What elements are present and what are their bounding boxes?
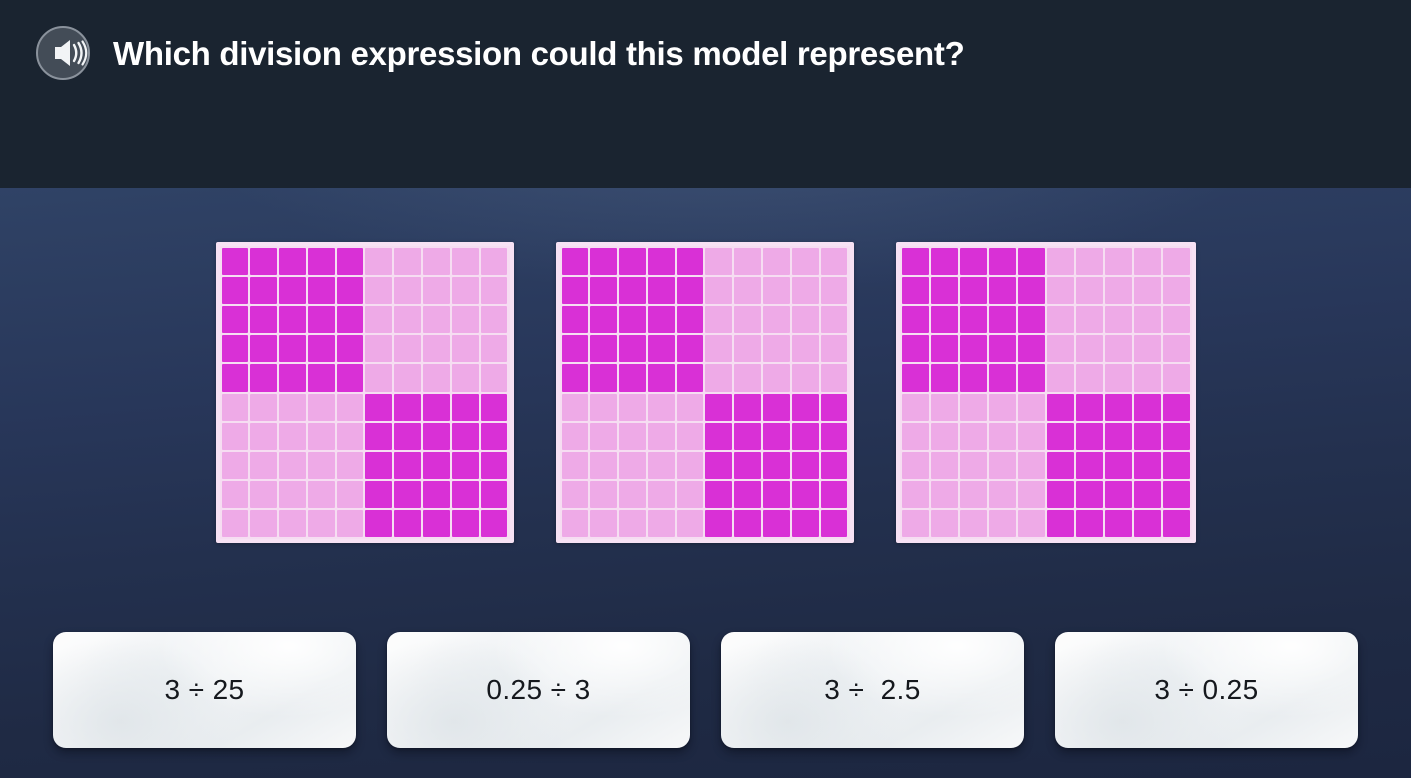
- grid-cell: [1163, 481, 1190, 508]
- grid-cell: [337, 394, 364, 421]
- grid-cell: [763, 481, 790, 508]
- grid-cell: [648, 481, 675, 508]
- answer-option-2-label: 0.25 ÷ 3: [486, 674, 590, 706]
- page-title: Which division expression could this mod…: [113, 34, 964, 72]
- grid-cell: [279, 277, 306, 304]
- grid-cell: [1047, 306, 1074, 333]
- grid-cell: [1076, 481, 1103, 508]
- grid-cell: [562, 394, 589, 421]
- grid-cell: [1047, 423, 1074, 450]
- grid-cell: [931, 364, 958, 391]
- grid-cell: [1134, 364, 1161, 391]
- grid-cell: [1018, 481, 1045, 508]
- grid-cell: [423, 394, 450, 421]
- grid-cell: [677, 510, 704, 537]
- grid-cell: [705, 510, 732, 537]
- grid-cell: [481, 248, 508, 275]
- grid-cell: [763, 452, 790, 479]
- grid-cell: [279, 306, 306, 333]
- grid-cell: [337, 481, 364, 508]
- grid-cell: [1134, 306, 1161, 333]
- grid-cell: [734, 248, 761, 275]
- grid-cell: [1076, 364, 1103, 391]
- answer-option-1[interactable]: 3 ÷ 25: [53, 632, 356, 748]
- grid-cell: [308, 423, 335, 450]
- grid-cell: [792, 423, 819, 450]
- grid-cell: [1047, 364, 1074, 391]
- grid-cell: [619, 306, 646, 333]
- grid-cell: [648, 277, 675, 304]
- grid-cell: [365, 481, 392, 508]
- grid-cell: [279, 510, 306, 537]
- grid-cell: [337, 306, 364, 333]
- grid-cell: [619, 248, 646, 275]
- grid-cell: [792, 335, 819, 362]
- grid-cell: [902, 335, 929, 362]
- grid-cell: [279, 394, 306, 421]
- grid-cell: [308, 481, 335, 508]
- grid-cell: [705, 335, 732, 362]
- grid-cell: [960, 277, 987, 304]
- grid-cell: [734, 364, 761, 391]
- grid-cell: [705, 248, 732, 275]
- grid-cell: [677, 248, 704, 275]
- grid-cell: [792, 481, 819, 508]
- grid-cell: [734, 394, 761, 421]
- grid-cell: [250, 277, 277, 304]
- grid-cell: [705, 277, 732, 304]
- grid-cell: [677, 452, 704, 479]
- grid-cell: [222, 452, 249, 479]
- grid-cell: [590, 510, 617, 537]
- grid-cell: [1134, 423, 1161, 450]
- grid-cell: [902, 510, 929, 537]
- grid-cell: [821, 452, 848, 479]
- grid-cell: [308, 277, 335, 304]
- grid-cell: [452, 452, 479, 479]
- grid-cell: [960, 306, 987, 333]
- grid-cell: [365, 364, 392, 391]
- grid-cell: [792, 510, 819, 537]
- grid-cell: [734, 423, 761, 450]
- hundredths-grid-1: [216, 242, 514, 543]
- grid-cell: [250, 306, 277, 333]
- grid-cell: [423, 364, 450, 391]
- grid-cell: [1163, 335, 1190, 362]
- grid-cell: [763, 364, 790, 391]
- grid-cell: [763, 277, 790, 304]
- grid-cell: [1047, 277, 1074, 304]
- grid-cell: [705, 364, 732, 391]
- grid-cell: [734, 335, 761, 362]
- grid-cell: [337, 510, 364, 537]
- grid-cell: [960, 423, 987, 450]
- grid-cell: [734, 481, 761, 508]
- grid-cell: [960, 452, 987, 479]
- answer-option-3[interactable]: 3 ÷ 2.5: [721, 632, 1024, 748]
- grid-cell: [989, 248, 1016, 275]
- grid-cell: [481, 423, 508, 450]
- grid-cell: [1076, 277, 1103, 304]
- grid-cell: [562, 277, 589, 304]
- grid-cell: [250, 423, 277, 450]
- grid-cell: [365, 423, 392, 450]
- quiz-screen: Which division expression could this mod…: [0, 0, 1411, 778]
- grid-cell: [1134, 394, 1161, 421]
- hundredths-grid-2: [556, 242, 854, 543]
- grid-cell: [279, 248, 306, 275]
- grid-cell: [1076, 306, 1103, 333]
- grid-cell: [222, 481, 249, 508]
- grid-cell: [677, 364, 704, 391]
- grid-cell: [279, 481, 306, 508]
- grid-cell: [365, 510, 392, 537]
- grid-cell: [648, 510, 675, 537]
- grid-cell: [394, 394, 421, 421]
- grid-cell: [481, 277, 508, 304]
- grid-cell: [1076, 452, 1103, 479]
- grid-cell: [222, 277, 249, 304]
- grid-cell: [337, 277, 364, 304]
- grid-cell: [590, 423, 617, 450]
- grid-cell: [452, 364, 479, 391]
- grid-cell: [590, 306, 617, 333]
- grid-cell: [337, 452, 364, 479]
- grid-cell: [481, 452, 508, 479]
- grid-cell: [792, 277, 819, 304]
- grid-cell: [1076, 510, 1103, 537]
- grid-cell: [337, 423, 364, 450]
- grid-cell: [902, 248, 929, 275]
- grid-cell: [452, 423, 479, 450]
- grid-cell: [821, 277, 848, 304]
- grid-cell: [452, 306, 479, 333]
- grid-cell: [960, 335, 987, 362]
- grid-cell: [222, 364, 249, 391]
- grid-cell: [1018, 510, 1045, 537]
- grid-cell: [1018, 452, 1045, 479]
- grid-cell: [481, 306, 508, 333]
- grid-cell: [222, 423, 249, 450]
- grid-cell: [1105, 335, 1132, 362]
- grid-cell: [931, 306, 958, 333]
- grid-cell: [792, 364, 819, 391]
- grid-cell: [734, 306, 761, 333]
- grid-cell: [734, 452, 761, 479]
- grid-cell: [562, 248, 589, 275]
- grid-cell: [821, 364, 848, 391]
- grid-cell: [337, 248, 364, 275]
- grid-cell: [989, 423, 1016, 450]
- grid-cell: [1134, 510, 1161, 537]
- model-row: [0, 242, 1411, 543]
- grid-cell: [792, 248, 819, 275]
- grid-cell: [1163, 394, 1190, 421]
- grid-cell: [619, 510, 646, 537]
- grid-cell: [562, 306, 589, 333]
- grid-cell: [960, 364, 987, 391]
- grid-cell: [902, 306, 929, 333]
- grid-cell: [1163, 277, 1190, 304]
- grid-cell: [562, 423, 589, 450]
- grid-cell: [821, 481, 848, 508]
- grid-cell: [705, 423, 732, 450]
- grid-cell: [250, 394, 277, 421]
- grid-cell: [590, 364, 617, 391]
- grid-cell: [1105, 277, 1132, 304]
- grid-cell: [1018, 277, 1045, 304]
- grid-cell: [902, 394, 929, 421]
- grid-cell: [279, 452, 306, 479]
- grid-cell: [677, 423, 704, 450]
- grid-cell: [902, 423, 929, 450]
- grid-cell: [1134, 481, 1161, 508]
- grid-cell: [989, 306, 1016, 333]
- grid-cell: [423, 335, 450, 362]
- grid-cell: [1105, 248, 1132, 275]
- grid-cell: [590, 335, 617, 362]
- grid-cell: [308, 335, 335, 362]
- grid-cell: [821, 248, 848, 275]
- grid-cell: [1018, 335, 1045, 362]
- grid-cell: [1047, 335, 1074, 362]
- grid-cell: [394, 335, 421, 362]
- grid-cell: [1018, 364, 1045, 391]
- grid-cell: [931, 510, 958, 537]
- question-header: Which division expression could this mod…: [0, 0, 1411, 188]
- grid-cell: [1105, 510, 1132, 537]
- grid-cell: [902, 481, 929, 508]
- grid-cell: [423, 481, 450, 508]
- grid-cell: [821, 394, 848, 421]
- grid-cell: [222, 306, 249, 333]
- grid-cell: [1105, 364, 1132, 391]
- grid-cell: [960, 510, 987, 537]
- answer-option-2[interactable]: 0.25 ÷ 3: [387, 632, 690, 748]
- grid-cell: [648, 364, 675, 391]
- grid-cell: [677, 335, 704, 362]
- grid-cell: [648, 248, 675, 275]
- grid-cell: [423, 452, 450, 479]
- grid-cell: [562, 510, 589, 537]
- grid-cell: [1163, 510, 1190, 537]
- grid-cell: [763, 248, 790, 275]
- grid-cell: [590, 277, 617, 304]
- grid-cell: [705, 481, 732, 508]
- grid-cell: [222, 248, 249, 275]
- grid-cell: [308, 394, 335, 421]
- grid-cell: [821, 510, 848, 537]
- grid-cell: [619, 481, 646, 508]
- grid-cell: [365, 248, 392, 275]
- grid-cell: [423, 510, 450, 537]
- grid-cell: [931, 481, 958, 508]
- grid-cell: [763, 335, 790, 362]
- grid-cell: [1018, 306, 1045, 333]
- grid-cell: [394, 481, 421, 508]
- grid-cell: [734, 510, 761, 537]
- grid-cell: [705, 452, 732, 479]
- grid-cell: [590, 394, 617, 421]
- grid-cell: [481, 335, 508, 362]
- grid-cell: [902, 364, 929, 391]
- grid-cell: [562, 452, 589, 479]
- grid-cell: [902, 277, 929, 304]
- grid-cell: [423, 423, 450, 450]
- grid-cell: [250, 452, 277, 479]
- grid-cell: [1047, 481, 1074, 508]
- answer-options: 3 ÷ 25 0.25 ÷ 3 3 ÷ 2.5 3 ÷ 0.25: [0, 632, 1411, 748]
- grid-cell: [481, 364, 508, 391]
- grid-cell: [619, 364, 646, 391]
- grid-cell: [1105, 481, 1132, 508]
- hundredths-grid-3: [896, 242, 1196, 543]
- grid-cell: [1047, 452, 1074, 479]
- grid-cell: [619, 394, 646, 421]
- grid-cell: [1018, 248, 1045, 275]
- grid-cell: [931, 423, 958, 450]
- grid-cell: [590, 481, 617, 508]
- grid-cell: [394, 510, 421, 537]
- grid-cell: [792, 394, 819, 421]
- grid-cell: [989, 335, 1016, 362]
- grid-cell: [337, 364, 364, 391]
- grid-cell: [1134, 248, 1161, 275]
- grid-cell: [989, 277, 1016, 304]
- grid-cell: [308, 510, 335, 537]
- grid-cell: [562, 481, 589, 508]
- grid-cell: [1163, 452, 1190, 479]
- answer-option-4[interactable]: 3 ÷ 0.25: [1055, 632, 1358, 748]
- grid-cell: [1163, 423, 1190, 450]
- grid-cell: [1105, 394, 1132, 421]
- speaker-audio-icon[interactable]: [33, 24, 93, 82]
- grid-cell: [481, 481, 508, 508]
- grid-cell: [648, 452, 675, 479]
- grid-cell: [1163, 306, 1190, 333]
- grid-cell: [279, 423, 306, 450]
- grid-cell: [648, 335, 675, 362]
- grid-cell: [763, 423, 790, 450]
- grid-cell: [619, 277, 646, 304]
- grid-cell: [423, 306, 450, 333]
- grid-cell: [394, 277, 421, 304]
- grid-cell: [250, 364, 277, 391]
- grid-cell: [705, 394, 732, 421]
- grid-cell: [590, 248, 617, 275]
- grid-cell: [308, 364, 335, 391]
- grid-cell: [1105, 423, 1132, 450]
- grid-cell: [1076, 248, 1103, 275]
- grid-cell: [308, 248, 335, 275]
- grid-cell: [1047, 248, 1074, 275]
- grid-cell: [250, 510, 277, 537]
- grid-cell: [989, 481, 1016, 508]
- grid-cell: [1105, 306, 1132, 333]
- grid-cell: [365, 306, 392, 333]
- grid-cell: [619, 452, 646, 479]
- grid-cell: [677, 394, 704, 421]
- grid-cell: [792, 306, 819, 333]
- grid-cell: [931, 335, 958, 362]
- grid-cell: [931, 277, 958, 304]
- grid-cell: [394, 364, 421, 391]
- answer-option-4-label: 3 ÷ 0.25: [1154, 674, 1258, 706]
- grid-cell: [1076, 423, 1103, 450]
- grid-cell: [1163, 364, 1190, 391]
- grid-cell: [394, 306, 421, 333]
- grid-cell: [821, 335, 848, 362]
- grid-cell: [452, 335, 479, 362]
- answer-option-3-label: 3 ÷ 2.5: [824, 674, 920, 706]
- grid-cell: [222, 510, 249, 537]
- grid-cell: [481, 394, 508, 421]
- grid-cell: [763, 510, 790, 537]
- grid-cell: [365, 277, 392, 304]
- header-inner: Which division expression could this mod…: [0, 0, 1411, 82]
- grid-cell: [1105, 452, 1132, 479]
- answer-option-1-label: 3 ÷ 25: [164, 674, 244, 706]
- grid-cell: [821, 423, 848, 450]
- grid-cell: [423, 248, 450, 275]
- grid-cell: [1134, 452, 1161, 479]
- grid-cell: [1134, 277, 1161, 304]
- grid-cell: [648, 306, 675, 333]
- grid-cell: [308, 452, 335, 479]
- grid-cell: [821, 306, 848, 333]
- grid-cell: [452, 481, 479, 508]
- grid-cell: [619, 335, 646, 362]
- grid-cell: [931, 394, 958, 421]
- grid-cell: [677, 306, 704, 333]
- grid-cell: [902, 452, 929, 479]
- grid-cell: [1018, 394, 1045, 421]
- grid-cell: [279, 364, 306, 391]
- grid-cell: [619, 423, 646, 450]
- grid-cell: [763, 394, 790, 421]
- grid-cell: [250, 335, 277, 362]
- grid-cell: [452, 248, 479, 275]
- grid-cell: [562, 364, 589, 391]
- grid-cell: [452, 277, 479, 304]
- grid-cell: [989, 452, 1016, 479]
- grid-cell: [1163, 248, 1190, 275]
- grid-cell: [763, 306, 790, 333]
- grid-cell: [365, 394, 392, 421]
- grid-cell: [394, 423, 421, 450]
- grid-cell: [250, 481, 277, 508]
- grid-cell: [705, 306, 732, 333]
- grid-cell: [960, 248, 987, 275]
- grid-cell: [931, 452, 958, 479]
- grid-cell: [365, 452, 392, 479]
- grid-cell: [452, 394, 479, 421]
- grid-cell: [989, 394, 1016, 421]
- grid-cell: [222, 335, 249, 362]
- grid-cell: [365, 335, 392, 362]
- grid-cell: [394, 248, 421, 275]
- grid-cell: [648, 423, 675, 450]
- grid-cell: [931, 248, 958, 275]
- grid-cell: [279, 335, 306, 362]
- grid-cell: [222, 394, 249, 421]
- grid-cell: [1047, 510, 1074, 537]
- grid-cell: [792, 452, 819, 479]
- grid-cell: [989, 510, 1016, 537]
- grid-cell: [648, 394, 675, 421]
- grid-cell: [250, 248, 277, 275]
- grid-cell: [423, 277, 450, 304]
